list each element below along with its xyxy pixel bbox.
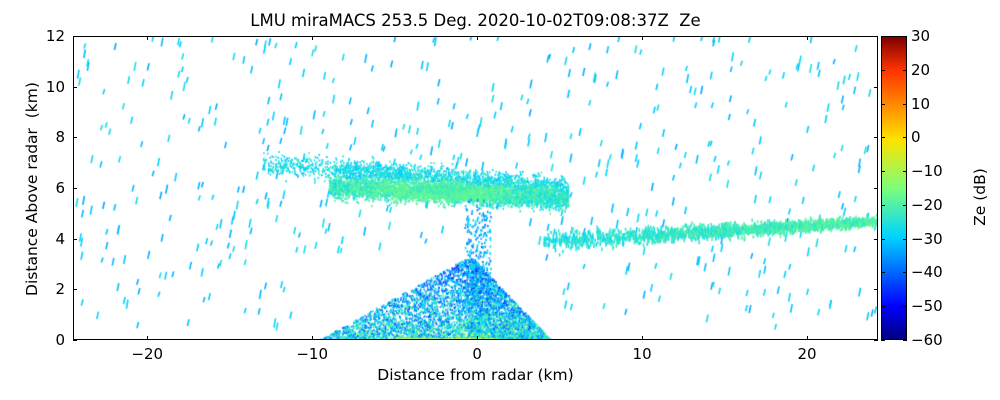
x-tick-mark	[477, 36, 478, 40]
y-tick-mark	[874, 289, 878, 290]
colorbar-tick-label: 20	[911, 61, 930, 79]
colorbar-tick-mark	[903, 171, 907, 172]
colorbar-tick-label: 10	[911, 95, 930, 113]
colorbar-tick-mark	[881, 70, 885, 71]
x-tick-mark	[312, 36, 313, 40]
x-tick-label: −20	[131, 345, 163, 363]
x-tick-mark	[807, 36, 808, 40]
x-tick-label: 0	[472, 345, 482, 363]
x-tick-label: 20	[798, 345, 817, 363]
y-tick-mark	[874, 87, 878, 88]
colorbar-tick-mark	[903, 104, 907, 105]
y-tick-mark	[874, 239, 878, 240]
colorbar-tick-mark	[881, 205, 885, 206]
y-tick-mark	[73, 137, 77, 138]
y-tick-mark	[874, 36, 878, 37]
y-axis-label: Distance Above radar (km)	[23, 39, 41, 339]
colorbar-tick-label: 0	[911, 128, 921, 146]
x-tick-mark	[147, 336, 148, 340]
y-tick-mark	[73, 340, 77, 341]
colorbar-tick-mark	[881, 306, 885, 307]
radar-rhi-figure: LMU miraMACS 253.5 Deg. 2020-10-02T09:08…	[0, 0, 1000, 400]
x-tick-mark	[642, 36, 643, 40]
colorbar-title: Ze (dB)	[971, 97, 989, 297]
y-tick-mark	[874, 340, 878, 341]
colorbar-tick-label: −20	[911, 196, 943, 214]
x-tick-mark	[477, 336, 478, 340]
x-tick-label: 10	[633, 345, 652, 363]
y-tick-mark	[73, 188, 77, 189]
colorbar-tick-label: −10	[911, 162, 943, 180]
colorbar-tick-mark	[881, 340, 885, 341]
colorbar-tick-label: 30	[911, 27, 930, 45]
colorbar-tick-mark	[881, 36, 885, 37]
colorbar-tick-mark	[881, 272, 885, 273]
colorbar-tick-mark	[903, 205, 907, 206]
y-tick-mark	[73, 87, 77, 88]
colorbar-tick-mark	[903, 340, 907, 341]
y-tick-mark	[874, 137, 878, 138]
colorbar-tick-mark	[903, 70, 907, 71]
colorbar-gradient	[882, 37, 906, 339]
figure-title: LMU miraMACS 253.5 Deg. 2020-10-02T09:08…	[73, 11, 878, 30]
colorbar-tick-label: −50	[911, 297, 943, 315]
colorbar-tick-label: −60	[911, 331, 943, 349]
colorbar-tick-mark	[903, 36, 907, 37]
y-tick-mark	[73, 36, 77, 37]
plot-axes	[73, 36, 878, 340]
colorbar-tick-mark	[881, 171, 885, 172]
x-tick-label: −10	[296, 345, 328, 363]
colorbar-tick-mark	[881, 104, 885, 105]
colorbar-tick-mark	[903, 272, 907, 273]
scatter-canvas	[74, 37, 877, 339]
colorbar	[881, 36, 907, 340]
colorbar-tick-mark	[903, 137, 907, 138]
y-tick-mark	[874, 188, 878, 189]
colorbar-tick-mark	[881, 137, 885, 138]
x-tick-mark	[807, 336, 808, 340]
x-tick-mark	[312, 336, 313, 340]
x-tick-mark	[642, 336, 643, 340]
colorbar-tick-label: −30	[911, 230, 943, 248]
colorbar-tick-mark	[881, 239, 885, 240]
colorbar-tick-label: −40	[911, 263, 943, 281]
y-tick-mark	[73, 289, 77, 290]
x-axis-label: Distance from radar (km)	[73, 366, 878, 384]
y-tick-mark	[73, 239, 77, 240]
colorbar-tick-mark	[903, 306, 907, 307]
colorbar-tick-mark	[903, 239, 907, 240]
x-tick-mark	[147, 36, 148, 40]
